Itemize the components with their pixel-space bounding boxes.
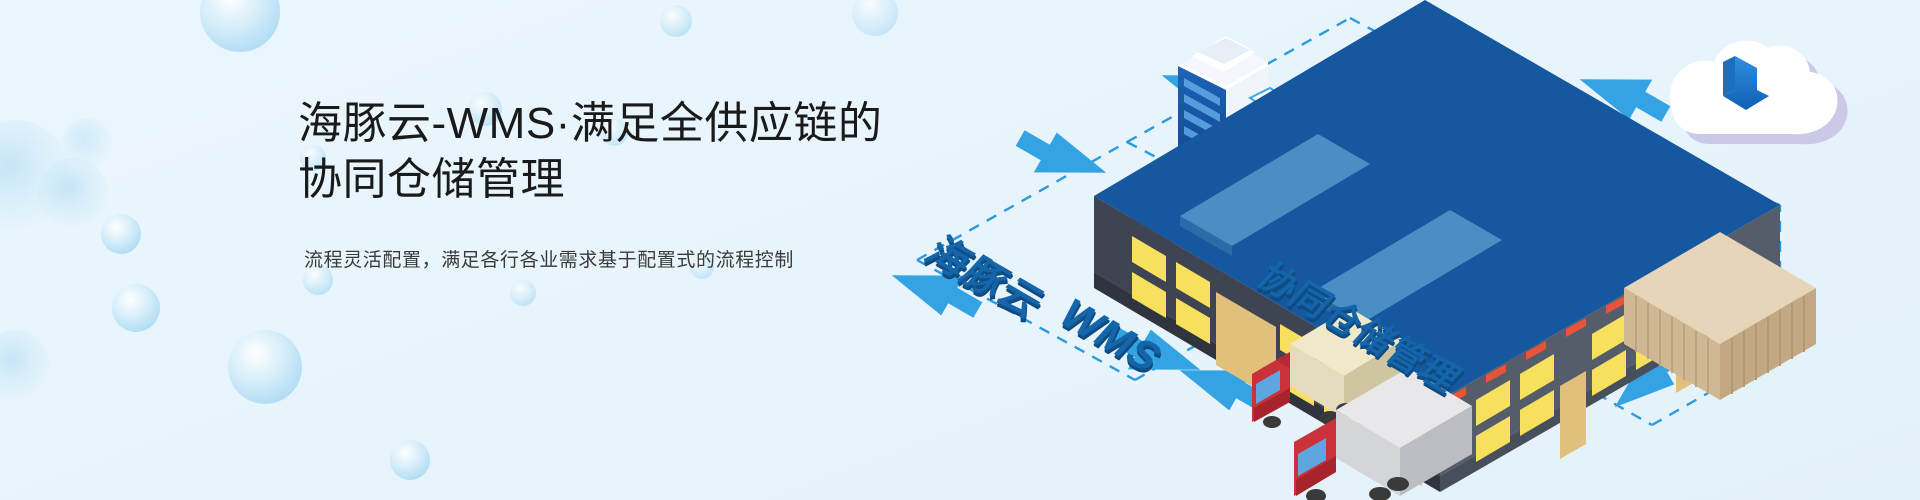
- bubble: [200, 0, 280, 52]
- page-title: 海豚云-WMS·满足全供应链的 协同仓储管理: [298, 96, 938, 209]
- bubble: [390, 440, 430, 480]
- arrow-icon: [1009, 118, 1112, 204]
- hero-copy: 海豚云-WMS·满足全供应链的 协同仓储管理 流程灵活配置，满足各行各业需求基于…: [298, 96, 938, 272]
- bubble: [0, 330, 50, 400]
- bubble: [38, 158, 108, 228]
- bubble: [660, 5, 692, 37]
- hero-banner: 海豚云-WMS·满足全供应链的 协同仓储管理 流程灵活配置，满足各行各业需求基于…: [0, 0, 1920, 500]
- bubble: [228, 330, 302, 404]
- bubble: [62, 118, 112, 168]
- bubble: [510, 280, 536, 306]
- page-subtitle: 流程灵活配置，满足各行各业需求基于配置式的流程控制: [304, 245, 938, 272]
- bubble: [112, 284, 160, 332]
- cloud-download-icon: [1670, 40, 1848, 144]
- warehouse-illustration: 海豚云 WMS 协同仓储管理: [880, 0, 1920, 500]
- bubble: [101, 214, 141, 254]
- bubble: [0, 120, 70, 230]
